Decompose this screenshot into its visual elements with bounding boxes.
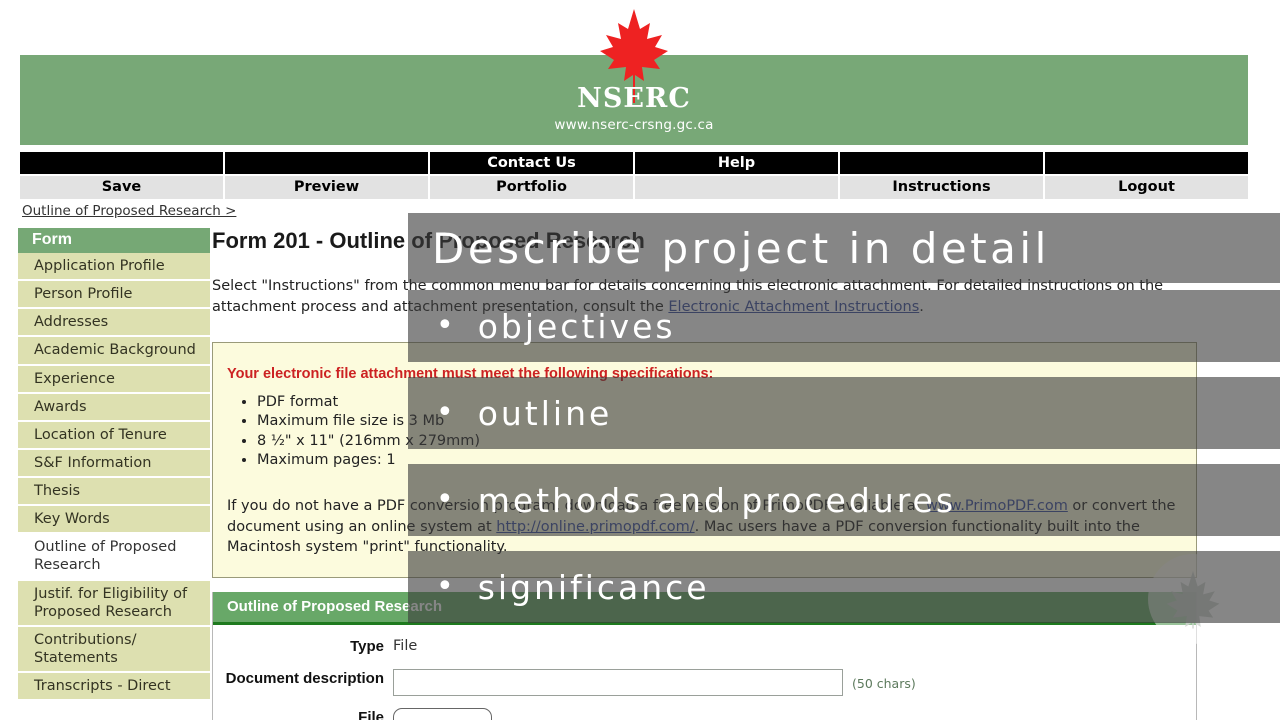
sidebar-item-awards[interactable]: Awards <box>18 394 210 422</box>
overlay-bullet-objectives: • objectives <box>408 290 1280 362</box>
document-description-input[interactable] <box>393 669 843 696</box>
sidebar-item-location-of-tenure[interactable]: Location of Tenure <box>18 422 210 450</box>
menu-bottom-cell-4[interactable] <box>635 176 840 199</box>
overlay-bullet-significance: • significance <box>408 551 1280 623</box>
overlay-bullet-text: objectives <box>478 307 676 346</box>
document-description-hint: (50 chars) <box>843 669 916 691</box>
menu-logout[interactable]: Logout <box>1045 176 1248 199</box>
sidebar-item-experience[interactable]: Experience <box>18 366 210 394</box>
sidebar-item-sf-information[interactable]: S&F Information <box>18 450 210 478</box>
menu-top-cell-6[interactable] <box>1045 152 1248 174</box>
overlay-bullet-text: methods and procedures <box>478 481 956 520</box>
bullet-dot-icon: • <box>408 572 478 602</box>
overlay-heading-text: Describe project in detail <box>432 224 1050 273</box>
file-row: File <box>213 696 1196 720</box>
browse-file-button[interactable] <box>393 708 492 720</box>
menu-contact-us[interactable]: Contact Us <box>430 152 635 174</box>
sidebar-item-academic-background[interactable]: Academic Background <box>18 337 210 365</box>
document-description-row: Document description (50 chars) <box>213 657 1196 696</box>
banner-title: NSERC <box>20 83 1248 114</box>
menu-bar-top: Contact Us Help <box>20 152 1248 174</box>
overlay-bullet-text: significance <box>478 568 710 607</box>
sidebar-header: Form <box>18 228 210 253</box>
sidebar-item-addresses[interactable]: Addresses <box>18 309 210 337</box>
overlay-bullet-text: outline <box>478 394 613 433</box>
document-description-label: Document description <box>213 669 393 689</box>
sidebar-item-thesis[interactable]: Thesis <box>18 478 210 506</box>
page-root: NSERC www.nserc-crsng.gc.ca Contact Us H… <box>0 0 1280 720</box>
banner-url: www.nserc-crsng.gc.ca <box>20 117 1248 133</box>
type-label: Type <box>213 637 393 657</box>
sidebar: Form Application Profile Person Profile … <box>18 228 210 701</box>
menu-bar-bottom: Save Preview Portfolio Instructions Logo… <box>20 176 1248 199</box>
sidebar-item-person-profile[interactable]: Person Profile <box>18 281 210 309</box>
overlay-bullet-methods-and-procedures: • methods and procedures <box>408 464 1280 536</box>
menu-save[interactable]: Save <box>20 176 225 199</box>
bullet-dot-icon: • <box>408 485 478 515</box>
menu-preview[interactable]: Preview <box>225 176 430 199</box>
menu-instructions[interactable]: Instructions <box>840 176 1045 199</box>
sidebar-item-transcripts-direct[interactable]: Transcripts - Direct <box>18 673 210 701</box>
menu-help[interactable]: Help <box>635 152 840 174</box>
menu-portfolio[interactable]: Portfolio <box>430 176 635 199</box>
menu-top-cell-1[interactable] <box>20 152 225 174</box>
breadcrumb[interactable]: Outline of Proposed Research > <box>22 203 236 219</box>
sidebar-item-outline-of-proposed-research[interactable]: Outline of Proposed Research <box>18 534 210 580</box>
file-label: File <box>213 708 393 720</box>
sidebar-item-application-profile[interactable]: Application Profile <box>18 253 210 281</box>
overlay-bullet-outline: • outline <box>408 377 1280 449</box>
type-row: Type File <box>213 625 1196 657</box>
menu-top-cell-2[interactable] <box>225 152 430 174</box>
bullet-dot-icon: • <box>408 311 478 341</box>
sidebar-item-key-words[interactable]: Key Words <box>18 506 210 534</box>
menu-top-cell-5[interactable] <box>840 152 1045 174</box>
sidebar-item-contributions-statements[interactable]: Contributions/ Statements <box>18 627 210 673</box>
type-value: File <box>393 637 417 654</box>
nserc-banner: NSERC www.nserc-crsng.gc.ca <box>20 55 1248 145</box>
overlay-heading: Describe project in detail <box>408 213 1280 283</box>
sidebar-item-justif-eligibility[interactable]: Justif. for Eligibility of Proposed Rese… <box>18 581 210 627</box>
bullet-dot-icon: • <box>408 398 478 428</box>
